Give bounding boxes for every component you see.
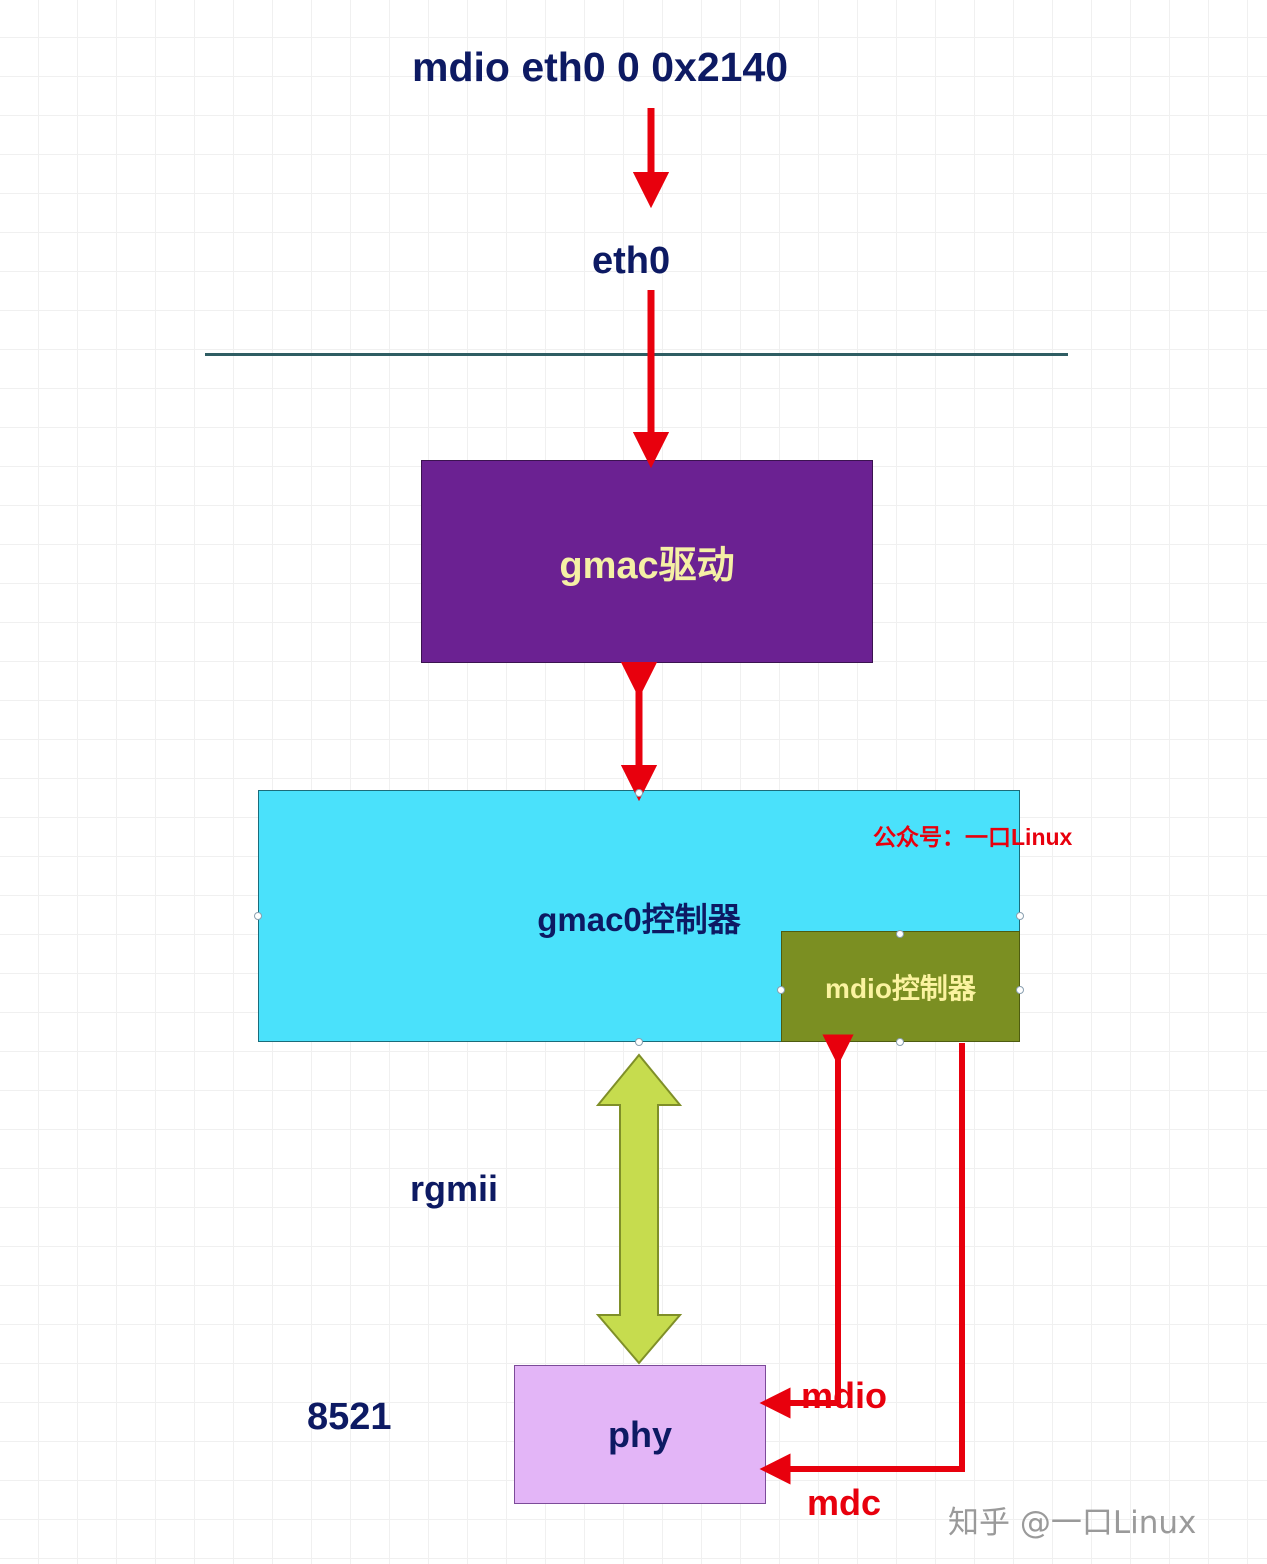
rgmii-label: rgmii (410, 1168, 498, 1210)
node-phy-label: phy (608, 1414, 672, 1456)
eth0-label: eth0 (592, 240, 670, 283)
connector-layer (0, 0, 1267, 1564)
node-gmac0-controller-label: gmac0控制器 (537, 893, 741, 941)
node-mdio-controller-label: mdio控制器 (825, 967, 976, 1007)
arrow-mdio-signal (775, 1050, 838, 1403)
node-mdio-controller[interactable]: mdio控制器 (781, 931, 1020, 1042)
handle-gmac0-left[interactable] (254, 912, 262, 920)
handle-gmac0-top[interactable] (635, 789, 643, 797)
handle-mdio-top[interactable] (896, 930, 904, 938)
command-label: mdio eth0 0 0x2140 (412, 44, 788, 91)
mdio-signal-label: mdio (801, 1375, 887, 1417)
handle-mdio-left[interactable] (777, 986, 785, 994)
mdc-signal-label: mdc (807, 1482, 881, 1524)
node-gmac-driver[interactable]: gmac驱动 (421, 460, 873, 663)
phy-model-label: 8521 (307, 1396, 392, 1439)
watermark-label: 知乎 @一口Linux (948, 1497, 1196, 1542)
handle-mdio-right[interactable] (1016, 986, 1024, 994)
handle-gmac0-bottom[interactable] (635, 1038, 643, 1046)
handle-mdio-bottom[interactable] (896, 1038, 904, 1046)
arrow-rgmii-bidirectional (598, 1055, 680, 1363)
wechat-account-label: 公众号：一口Linux (873, 818, 1072, 852)
kernel-userspace-divider (205, 353, 1068, 356)
handle-gmac0-right[interactable] (1016, 912, 1024, 920)
diagram-canvas: mdio eth0 0 0x2140 eth0 gmac驱动 gmac0控制器 … (0, 0, 1267, 1564)
node-gmac-driver-label: gmac驱动 (559, 534, 734, 589)
node-phy[interactable]: phy (514, 1365, 766, 1504)
